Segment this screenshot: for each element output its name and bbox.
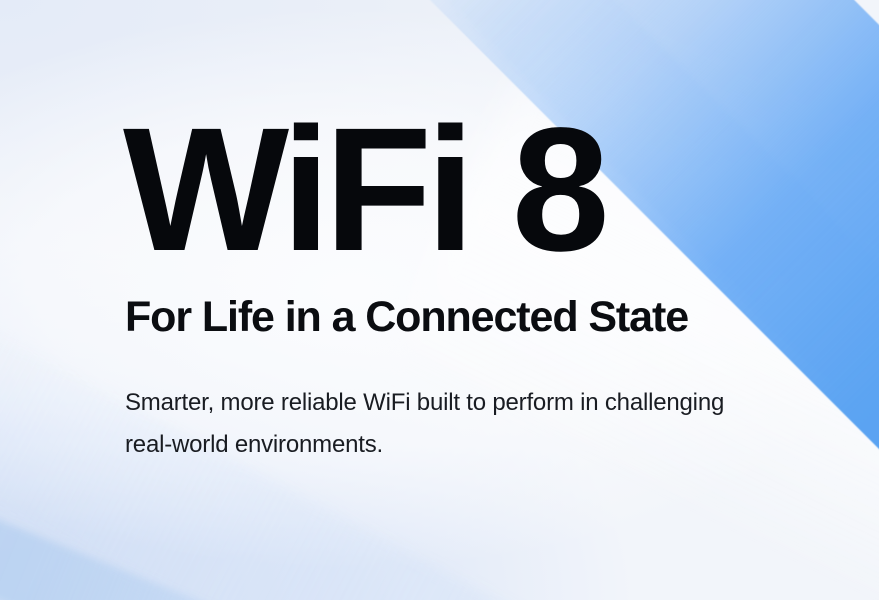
hero-description-line-1: Smarter, more reliable WiFi built to per… (125, 382, 805, 424)
hero-description-line-2: real-world environments. (125, 424, 805, 466)
hero-content: WiFi 8 For Life in a Connected State Sma… (123, 0, 843, 600)
page-title: WiFi 8 (123, 102, 604, 278)
hero-banner: WiFi 8 For Life in a Connected State Sma… (0, 0, 879, 600)
hero-description: Smarter, more reliable WiFi built to per… (125, 382, 805, 466)
hero-subtitle: For Life in a Connected State (125, 296, 688, 339)
